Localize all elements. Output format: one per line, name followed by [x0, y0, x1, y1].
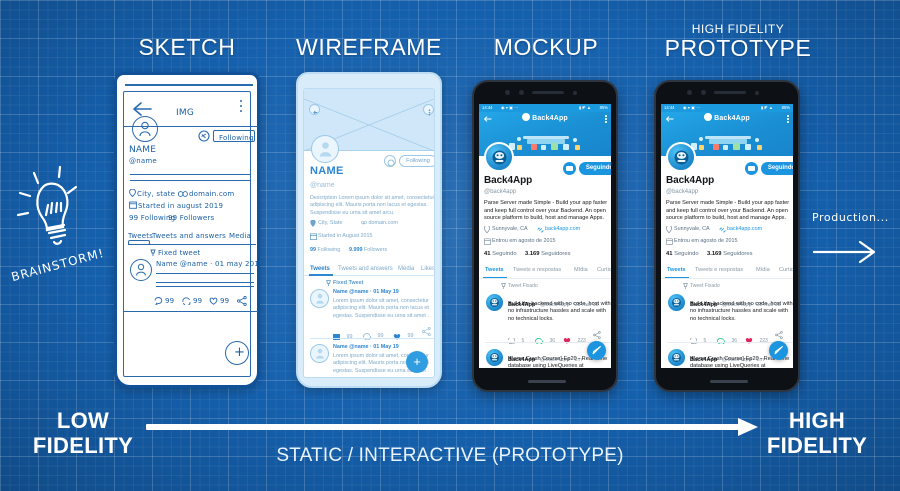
compose-fab[interactable]: +	[225, 341, 249, 365]
followers-label: Seguidores	[723, 251, 752, 257]
profile-website[interactable]: domain.com	[189, 190, 234, 198]
back4app-avatar-icon	[671, 297, 682, 308]
share-icon[interactable]	[422, 327, 431, 336]
back4app-avatar-icon	[489, 352, 500, 363]
calendar-icon	[666, 238, 673, 245]
back-arrow-icon[interactable]	[309, 104, 320, 115]
person-icon	[318, 141, 333, 157]
message-icon[interactable]	[198, 130, 210, 142]
reply-count: 5	[703, 338, 706, 344]
pinned-label: Tweet Fixado	[508, 283, 538, 289]
back4app-logo-icon	[522, 113, 530, 121]
profile-following[interactable]: 99 Following	[310, 247, 340, 254]
profile-handle: @back4app	[666, 189, 698, 195]
compose-fab[interactable]: +	[406, 351, 428, 373]
pin-icon	[150, 249, 156, 256]
following-count: 41	[484, 251, 490, 257]
production-label: Production...	[812, 211, 889, 224]
location-icon	[666, 226, 672, 233]
profile-location: Sunnyvale, CA	[674, 226, 710, 232]
followers-label: Followers	[364, 247, 387, 253]
tab-tweets[interactable]: Tweets	[310, 266, 330, 273]
signal-icons: ▮ ◤ ▲	[579, 104, 591, 112]
share-icon[interactable]	[775, 331, 783, 339]
profile-joined: Entrou em agosto de 2015	[674, 238, 738, 244]
calendar-icon	[129, 201, 137, 209]
tweet-meta: Name @name · 01 may 2019	[156, 260, 264, 268]
tab-media[interactable]: Mídia	[574, 267, 588, 273]
tweet-meta: Name @name · 01 May 19	[333, 289, 399, 296]
like-count: 99	[220, 297, 229, 305]
profile-joined: Entrou em agosto de 2015	[492, 238, 556, 244]
person-icon	[315, 348, 325, 359]
profile-handle: @back4app	[484, 189, 516, 195]
calendar-icon	[484, 238, 491, 245]
location-icon	[484, 226, 490, 233]
camera-dot	[687, 90, 692, 95]
tab-tweets-replies[interactable]: Tweets e respostas	[513, 267, 561, 273]
sketch-phone: IMG Following NAME @name City, state	[114, 72, 260, 388]
profile-following[interactable]: 41 Seguindo	[666, 251, 699, 257]
like-count: 223	[577, 338, 585, 344]
static-interactive-label: STATIC / INTERACTIVE (PROTOTYPE)	[0, 445, 900, 467]
reply-icon[interactable]	[333, 334, 340, 340]
link-icon	[719, 227, 726, 233]
compose-icon	[592, 345, 602, 355]
following-label: Seguindo	[492, 251, 517, 257]
status-icons: ◉ ▾ ▣ ⋯	[501, 104, 518, 112]
production-arrow-icon	[812, 238, 882, 264]
earpiece-speaker	[532, 91, 564, 94]
fidelity-arrow-line	[146, 424, 746, 430]
profile-handle: @name	[129, 157, 157, 165]
mockup-screen: 14:44 ◉ ▾ ▣ ⋯ 85% ▮ ◤ ▲ Back4App	[479, 104, 611, 368]
pinned-label: Fixed Tweet	[333, 280, 363, 287]
stage-title-sketch: SKETCH	[107, 34, 267, 61]
pinned-label: Fixed tweet	[158, 249, 200, 257]
follow-button[interactable]: Following	[213, 130, 255, 142]
link-icon	[178, 191, 188, 197]
more-vertical-icon[interactable]	[240, 100, 242, 112]
stage-title-prototype: PROTOTYPE	[648, 35, 828, 62]
tab-tweets-replies[interactable]: Tweets e respostas	[695, 267, 743, 273]
back4app-avatar-icon	[491, 149, 508, 166]
follow-button[interactable]: Seguindo	[761, 162, 793, 175]
profile-followers[interactable]: 3.169 Seguidores	[525, 251, 570, 257]
profile-followers[interactable]: 99 Followers	[168, 214, 214, 222]
profile-name: Back4App	[484, 175, 532, 186]
signal-icons: ▮ ◤ ▲	[761, 104, 773, 112]
profile-followers[interactable]: 9.999 Followers	[349, 247, 387, 254]
profile-location: Sunnyvale, CA	[492, 226, 528, 232]
like-count: 223	[759, 338, 767, 344]
tab-likes[interactable]: Curtidas	[597, 267, 611, 273]
tab-likes[interactable]: Curtidas	[779, 267, 793, 273]
link-icon	[537, 227, 544, 233]
share-icon[interactable]	[237, 296, 247, 306]
reply-count: 99	[165, 297, 174, 305]
stage-title-wireframe: WIREFRAME	[289, 34, 449, 61]
compose-fab[interactable]	[587, 341, 606, 360]
fidelity-arrow-head	[738, 415, 762, 439]
mockup-phone: 14:44 ◉ ▾ ▣ ⋯ 85% ▮ ◤ ▲ Back4App	[472, 80, 618, 392]
person-icon	[138, 121, 152, 137]
tab-media[interactable]: Mídia	[756, 267, 770, 273]
more-vertical-icon[interactable]	[423, 104, 434, 115]
following-count: 41	[666, 251, 672, 257]
prototype-screen: 14:44 ◉ ▾ ▣ ⋯ 85% ▮ ◤ ▲ Back4App	[661, 104, 793, 368]
tab-tweets[interactable]: Tweets	[485, 267, 504, 273]
back4app-avatar-icon	[489, 297, 500, 308]
follow-button-label: Seguindo	[586, 165, 611, 171]
reply-count: 99	[346, 334, 352, 340]
camera-dot	[519, 90, 524, 95]
stage-title-mockup: MOCKUP	[466, 34, 626, 61]
calendar-icon	[310, 233, 317, 240]
status-icons: ◉ ▾ ▣ ⋯	[683, 104, 700, 112]
follow-button[interactable]: Following	[399, 155, 435, 167]
back4app-logo-icon	[704, 113, 712, 121]
follow-button-label: Following	[406, 158, 430, 164]
tweet-text: Build the backend with no code, host wit…	[690, 301, 793, 323]
followers-count: 3.169	[525, 251, 540, 257]
profile-description: Parse Server made Simple - Build your ap…	[666, 200, 793, 223]
high-fidelity-line1: HIGH	[750, 408, 884, 433]
profile-name: NAME	[129, 145, 156, 155]
tweet-text: Build the backend with no code, host wit…	[508, 301, 611, 323]
sensor-dot	[573, 91, 577, 95]
header-title-row: Back4App	[479, 113, 611, 122]
tab-tweets-answers[interactable]: Tweets and answers	[152, 232, 226, 240]
person-icon	[135, 263, 147, 276]
profile-joined: Started in august 2019	[138, 202, 223, 210]
sensor-dot	[755, 91, 759, 95]
banner-illustration	[683, 128, 775, 154]
profile-followers[interactable]: 3.169 Seguidores	[707, 251, 752, 257]
earpiece-speaker	[714, 91, 746, 94]
status-time: 14:44	[664, 104, 674, 112]
sketch-topbar-title: IMG	[176, 108, 194, 118]
follow-button-label: Seguindo	[768, 165, 793, 171]
status-bar: 14:44 ◉ ▾ ▣ ⋯ 85% ▮ ◤ ▲	[661, 104, 793, 112]
message-button[interactable]	[745, 162, 758, 175]
profile-description: Parse Server made Simple - Build your ap…	[484, 200, 611, 223]
person-icon	[315, 293, 325, 304]
back4app-avatar-icon	[671, 352, 682, 363]
profile-name: NAME	[310, 168, 344, 175]
compose-fab-label: +	[413, 354, 421, 369]
location-icon	[129, 189, 136, 197]
profile-handle: @name	[310, 182, 335, 189]
tab-media[interactable]: Media	[229, 232, 251, 240]
nav-pill	[528, 380, 566, 383]
header-title: Back4App	[714, 115, 750, 122]
tweet-meta: Name @name · 01 May 19	[333, 344, 399, 351]
compose-fab[interactable]	[769, 341, 788, 360]
profile-location: City, State	[318, 220, 342, 227]
retweet-icon[interactable]	[182, 297, 191, 305]
following-count: 99	[310, 247, 316, 253]
tab-likes[interactable]: Likes	[421, 266, 435, 273]
more-vertical-icon[interactable]	[787, 115, 789, 123]
reply-icon[interactable]	[508, 338, 515, 344]
status-time: 14:44	[482, 104, 492, 112]
header-title: Back4App	[532, 115, 568, 122]
profile-name: Back4App	[666, 175, 714, 186]
tweet-text: Lorem ipsum dolor sit amet, consectetur …	[333, 298, 433, 320]
pin-icon	[501, 283, 506, 289]
reply-icon[interactable]	[690, 338, 697, 344]
compose-fab-label: +	[234, 348, 245, 358]
stage-subtitle-prototype: HIGH FIDELITY	[648, 22, 828, 36]
back-arrow-icon[interactable]	[483, 114, 493, 124]
back-arrow-icon[interactable]	[665, 114, 675, 124]
status-bar: 14:44 ◉ ▾ ▣ ⋯ 85% ▮ ◤ ▲	[479, 104, 611, 112]
message-icon[interactable]	[384, 155, 396, 167]
header-title-row: Back4App	[661, 113, 793, 122]
followers-count: 3.169	[707, 251, 722, 257]
location-icon	[310, 220, 316, 227]
tab-media[interactable]: Media	[398, 266, 414, 273]
tab-tweets[interactable]: Tweets	[667, 267, 686, 273]
following-label: Seguindo	[674, 251, 699, 257]
retweet-count: 99	[193, 297, 202, 305]
tab-tweets[interactable]: Tweets	[128, 232, 153, 240]
wireframe-screen: Following NAME @name Description Lorem i…	[303, 88, 435, 378]
compose-icon	[774, 345, 784, 355]
follow-button[interactable]: Seguindo	[579, 162, 611, 175]
low-fidelity-line1: LOW	[16, 408, 150, 433]
share-icon[interactable]	[593, 331, 601, 339]
followers-label: Seguidores	[541, 251, 570, 257]
back4app-avatar-icon	[673, 149, 690, 166]
prototype-phone: 14:44 ◉ ▾ ▣ ⋯ 85% ▮ ◤ ▲ Back4App	[654, 80, 800, 392]
profile-website[interactable]: back4app.com	[727, 226, 762, 232]
wireframe-phone: Following NAME @name Description Lorem i…	[296, 72, 442, 388]
share-icon[interactable]	[422, 377, 431, 378]
pin-icon	[326, 280, 331, 286]
camera-dot	[701, 90, 706, 95]
status-battery: 85%	[782, 104, 790, 112]
profile-joined: Started in August 2015	[318, 233, 373, 240]
message-button[interactable]	[563, 162, 576, 175]
back-arrow-icon[interactable]	[131, 101, 153, 117]
more-vertical-icon[interactable]	[605, 115, 607, 123]
banner-illustration	[501, 128, 593, 154]
pinned-label: Tweet Fixado	[690, 283, 720, 289]
profile-location: City, state	[137, 190, 175, 198]
retweet-icon[interactable]	[717, 338, 725, 344]
nav-pill	[710, 380, 748, 383]
retweet-icon[interactable]	[535, 338, 543, 344]
profile-description: Description Lorem ipsum dolor sit amet, …	[310, 195, 435, 217]
profile-website[interactable]: back4app.com	[545, 226, 580, 232]
sketch-screen: IMG Following NAME @name City, state	[123, 91, 251, 377]
tab-tweets-answers[interactable]: Tweets and answers	[338, 266, 393, 273]
follow-button-label: Following	[219, 134, 254, 142]
retweet-count: 36	[549, 338, 555, 344]
followers-count: 9.999	[349, 247, 363, 253]
heart-icon[interactable]	[209, 297, 218, 305]
tab-indicator	[128, 240, 150, 245]
profile-website[interactable]: oo domain.com	[361, 220, 398, 227]
reply-count: 5	[521, 338, 524, 344]
pin-icon	[683, 283, 688, 289]
retweet-count: 36	[731, 338, 737, 344]
profile-following[interactable]: 41 Seguindo	[484, 251, 517, 257]
camera-dot	[505, 90, 510, 95]
reply-icon[interactable]	[154, 297, 163, 305]
following-label: Following	[318, 247, 341, 253]
status-battery: 85%	[600, 104, 608, 112]
